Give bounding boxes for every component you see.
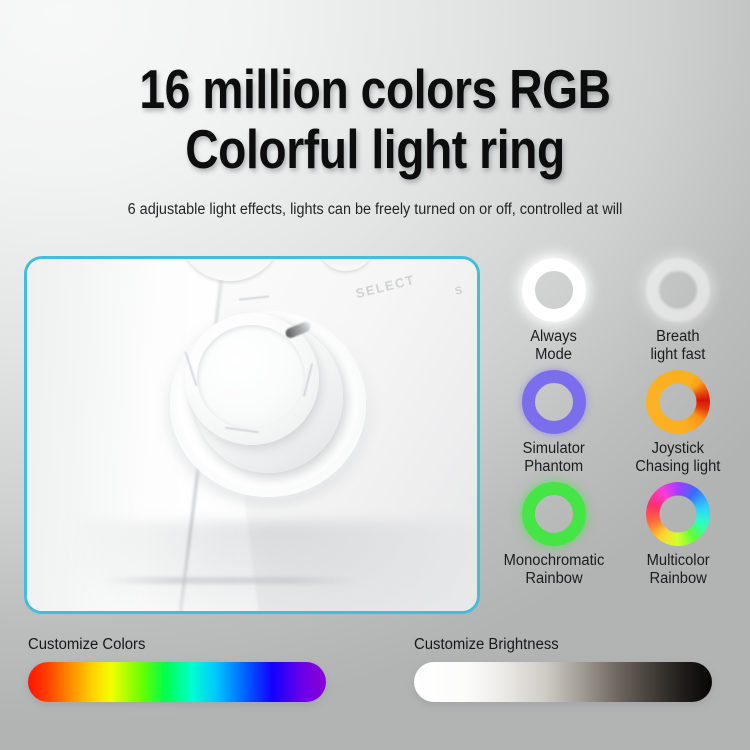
effect-label: Breath light fast xyxy=(651,328,706,364)
effect-item-breath-light-fast[interactable]: Breath light fast xyxy=(616,258,740,364)
customize-colors-group: Customize Colors xyxy=(28,636,326,702)
product-feature-page: 16 million colors RGB Colorful light rin… xyxy=(0,0,750,750)
color-spectrum-slider[interactable] xyxy=(28,662,326,702)
effect-label: Simulator Phantom xyxy=(523,440,585,476)
page-title: 16 million colors RGB Colorful light rin… xyxy=(60,59,690,179)
secondary-emboss-text: S xyxy=(454,284,466,298)
effect-label: Multicolor Rainbow xyxy=(646,552,709,588)
ring-icon-simulator xyxy=(522,370,586,434)
product-photo-card: SELECT S xyxy=(24,256,480,614)
effect-item-always-mode[interactable]: Always Mode xyxy=(492,258,616,364)
effect-item-simulator-phantom[interactable]: Simulator Phantom xyxy=(492,370,616,476)
page-subtitle: 6 adjustable light effects, lights can b… xyxy=(26,201,724,219)
controller-top-cut-secondary xyxy=(317,256,375,271)
light-effects-grid: Always Mode Breath light fast Simulator … xyxy=(492,258,740,588)
customize-colors-label: Customize Colors xyxy=(28,636,314,654)
select-emboss-text: SELECT xyxy=(354,272,417,301)
brightness-slider[interactable] xyxy=(414,662,712,702)
customize-brightness-label: Customize Brightness xyxy=(414,636,700,654)
joystick-seam xyxy=(239,295,269,300)
product-photo: SELECT S xyxy=(27,259,477,611)
effect-label: Monochromatic Rainbow xyxy=(504,552,605,588)
headline-line-1: 16 million colors RGB xyxy=(139,58,610,120)
effect-item-joystick-chasing-light[interactable]: Joystick Chasing light xyxy=(616,370,740,476)
ring-icon-always xyxy=(522,258,586,322)
headline-line-2: Colorful light ring xyxy=(60,119,690,179)
effect-label: Always Mode xyxy=(531,328,578,364)
controller-bottom-shadow xyxy=(67,521,480,614)
ring-icon-joystick xyxy=(646,370,710,434)
customize-brightness-group: Customize Brightness xyxy=(414,636,712,702)
effect-item-monochromatic-rainbow[interactable]: Monochromatic Rainbow xyxy=(492,482,616,588)
effect-label: Joystick Chasing light xyxy=(635,440,720,476)
ring-icon-mono xyxy=(522,482,586,546)
ring-icon-multi xyxy=(646,482,710,546)
ring-icon-breath xyxy=(646,258,710,322)
effect-item-multicolor-rainbow[interactable]: Multicolor Rainbow xyxy=(616,482,740,588)
